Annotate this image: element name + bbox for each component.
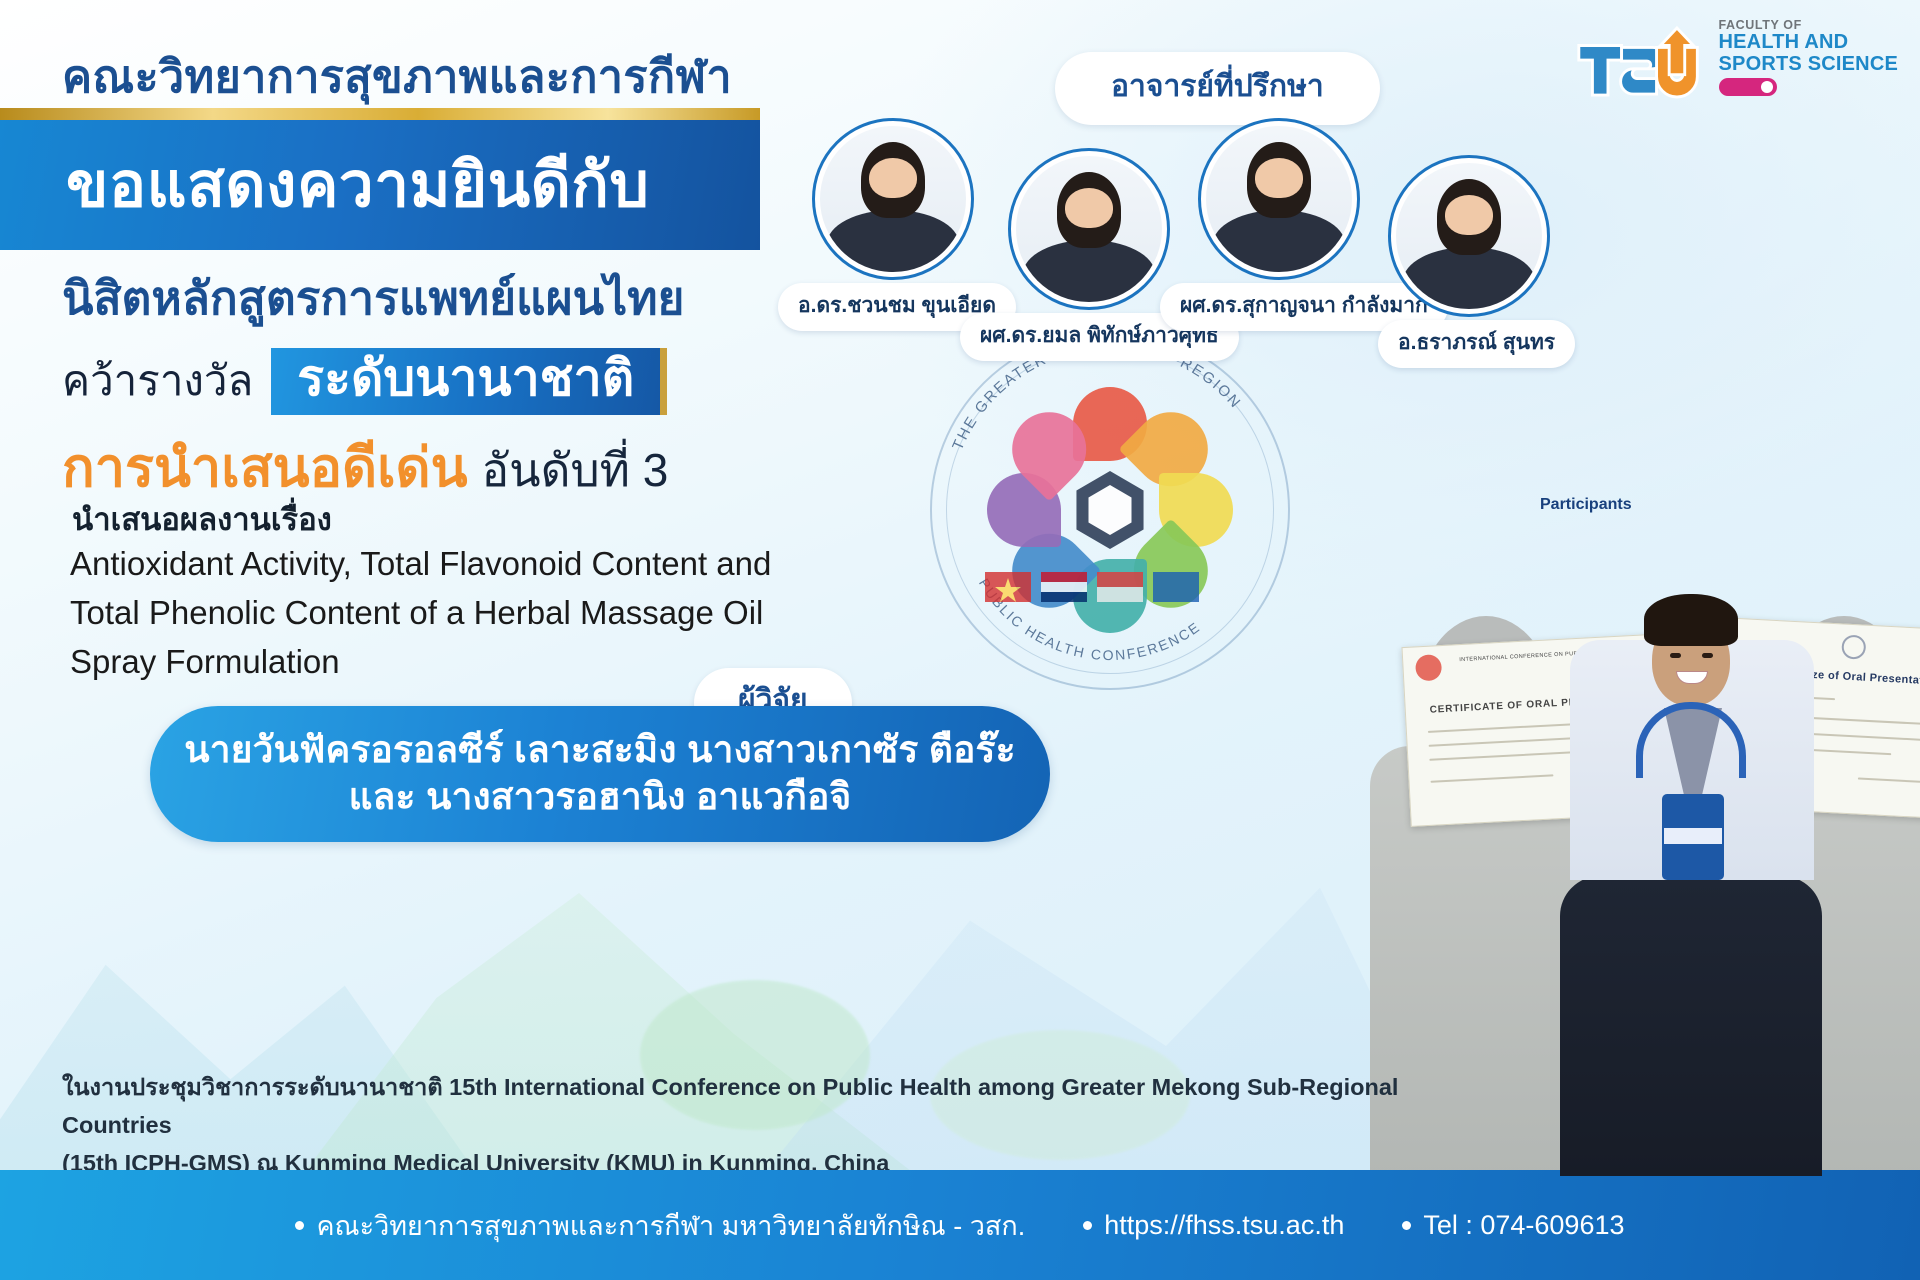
congratulations-band: ขอแสดงความยินดีกับ [0, 120, 760, 250]
conference-line-1: ในงานประชุมวิชาการระดับนานาชาติ 15th Int… [62, 1068, 1492, 1144]
tsu-logo: FACULTY OF HEALTH AND SPORTS SCIENCE [1573, 18, 1899, 102]
badge-text: Participants [1540, 496, 1840, 514]
advisor-card-3: ผศ.ดร.สุกาญจนา กำลังมาก [1198, 118, 1360, 280]
logo-line-3: SPORTS SCIENCE [1719, 54, 1899, 76]
gold-divider [0, 108, 760, 120]
logo-pill-icon [1719, 78, 1777, 96]
advisor-card-1: อ.ดร.ชวนชม ขุนเอียด [812, 118, 974, 280]
researcher-line: นายวันฟัครอรอลซีร์ เลาะสะมิง นางสาวเกาซั… [184, 727, 1015, 774]
research-label: นำเสนอผลงานเรื่อง [72, 494, 332, 544]
student-center: Participants [1540, 496, 1840, 1176]
logo-line-1: FACULTY OF [1719, 18, 1899, 32]
contact-website-text[interactable]: https://fhss.tsu.ac.th [1104, 1210, 1344, 1241]
advisor-photo-1 [812, 118, 974, 280]
logo-line-2: HEALTH AND [1719, 32, 1899, 54]
research-title-line: Total Phenolic Content of a Herbal Massa… [70, 589, 900, 638]
contact-item-website[interactable]: https://fhss.tsu.ac.th [1083, 1210, 1344, 1241]
advisors-pill-label: อาจารย์ที่ปรึกษา [1055, 52, 1380, 125]
contact-item-phone[interactable]: Tel : 074-609613 [1402, 1210, 1624, 1241]
research-title: Antioxidant Activity, Total Flavonoid Co… [70, 540, 900, 686]
bullet-icon [1083, 1221, 1092, 1230]
program-name: นิสิตหลักสูตรการแพทย์แผนไทย [62, 262, 685, 335]
award-level-chip: ระดับนานาชาติ [271, 348, 667, 415]
contact-phone-text[interactable]: Tel : 074-609613 [1423, 1210, 1624, 1241]
research-title-line: Antioxidant Activity, Total Flavonoid Co… [70, 540, 900, 589]
bullet-icon [1402, 1221, 1411, 1230]
researchers-banner: นายวันฟัครอรอลซีร์ เลาะสะมิง นางสาวเกาซั… [150, 706, 1050, 842]
contact-faculty-text: คณะวิทยาการสุขภาพและการกีฬา มหาวิทยาลัยท… [316, 1204, 1025, 1247]
students-photo: Participants INTERNATIONAL CONFERENCE ON… [1160, 376, 1920, 1176]
advisor-photo-3 [1198, 118, 1360, 280]
advisor-card-4: อ.ธราภรณ์ สุนทร [1388, 155, 1550, 317]
bullet-icon [295, 1221, 304, 1230]
award-level-row: คว้ารางวัล ระดับนานาชาติ [62, 348, 667, 415]
tsu-wordmark-icon [1573, 24, 1709, 102]
advisor-photo-2 [1008, 148, 1170, 310]
researcher-line: และ นางสาวรอฮานิง อาแวกือจิ [349, 774, 852, 821]
award-prefix: คว้ารางวัล [62, 348, 253, 414]
congratulations-text: ขอแสดงความยินดีกับ [0, 136, 649, 234]
award-rank: อันดับที่ 3 [482, 434, 669, 507]
faculty-name: คณะวิทยาการสุขภาพและการกีฬา [62, 40, 732, 112]
contact-item-faculty: คณะวิทยาการสุขภาพและการกีฬา มหาวิทยาลัยท… [295, 1204, 1025, 1247]
advisor-name-4: อ.ธราภรณ์ สุนทร [1378, 320, 1575, 368]
conference-info: ในงานประชุมวิชาการระดับนานาชาติ 15th Int… [62, 1068, 1492, 1182]
contact-bar: คณะวิทยาการสุขภาพและการกีฬา มหาวิทยาลัยท… [0, 1170, 1920, 1280]
advisor-card-2: ผศ.ดร.ยมล พิทักษ์ภาวศุทธิ [1008, 148, 1170, 310]
poster-root: THE GREATER MEKONG SUB-REGION PUBLIC HEA… [0, 0, 1920, 1280]
advisor-photo-4 [1388, 155, 1550, 317]
